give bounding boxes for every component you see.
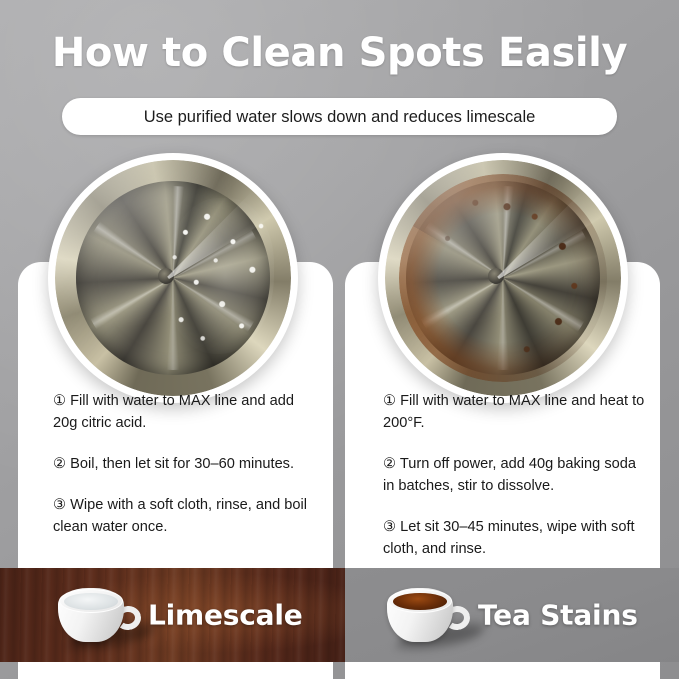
step-item: ③ Wipe with a soft cloth, rinse, and boi…	[53, 494, 321, 538]
cup-liquid-water	[64, 593, 118, 610]
kettle-base-tea-stains-photo	[385, 160, 621, 396]
infographic-canvas: How to Clean Spots Easily Use purified w…	[0, 0, 679, 679]
kettle-center-dimple	[158, 268, 174, 284]
kettle-base-limescale-photo	[55, 160, 291, 396]
subtitle-text: Use purified water slows down and reduce…	[144, 108, 536, 126]
white-cup-of-tea	[387, 586, 471, 648]
step-item: ① Fill with water to MAX line and add 20…	[53, 390, 321, 434]
band-label-tea-stains: Tea Stains	[478, 599, 638, 632]
step-item: ① Fill with water to MAX line and heat t…	[383, 390, 651, 434]
step-item: ③ Let sit 30–45 minutes, wipe with soft …	[383, 516, 651, 560]
cup-body	[387, 588, 453, 642]
kettle-disc-tea-stains	[385, 160, 621, 396]
kettle-center-dimple	[488, 268, 504, 284]
cup-liquid-tea	[393, 593, 447, 610]
steps-list-limescale: ① Fill with water to MAX line and add 20…	[53, 390, 321, 538]
step-item: ② Boil, then let sit for 30–60 minutes.	[53, 453, 321, 475]
band-tea-stains: Tea Stains	[345, 568, 679, 662]
white-cup-of-water	[58, 586, 142, 648]
cup-body	[58, 588, 124, 642]
kettle-disc-limescale	[55, 160, 291, 396]
step-item: ② Turn off power, add 40g baking soda in…	[383, 453, 651, 497]
limescale-deposit	[166, 198, 275, 354]
band-label-limescale: Limescale	[148, 599, 303, 632]
steps-list-tea-stains: ① Fill with water to MAX line and heat t…	[383, 390, 651, 560]
subtitle-pill: Use purified water slows down and reduce…	[62, 98, 617, 135]
page-title: How to Clean Spots Easily	[0, 30, 679, 76]
band-limescale: Limescale	[0, 568, 345, 662]
